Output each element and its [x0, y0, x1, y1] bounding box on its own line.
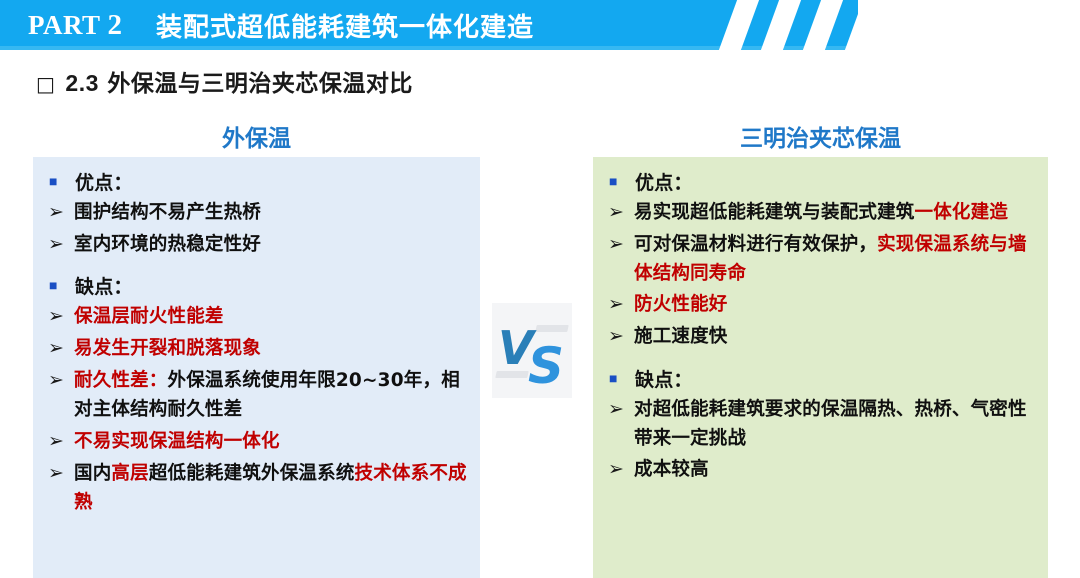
- right-item-segment: 优点：: [635, 172, 693, 194]
- right-item-segment: 成本较高: [634, 459, 709, 480]
- left-item-segment: 室内环境的热稳定性好: [74, 234, 261, 255]
- left-list-item: ➢围护结构不易产生热桥: [45, 198, 468, 228]
- stripe-3: [801, 0, 846, 50]
- arrow-bullet-icon: ➢: [605, 290, 634, 320]
- right-item-segment: 缺点：: [635, 369, 693, 391]
- left-item-segment: 易发生开裂和脱落现象: [74, 338, 261, 359]
- right-item-text: 成本较高: [634, 455, 1036, 484]
- subtitle-marker-icon: □: [36, 72, 55, 96]
- arrow-bullet-icon: ➢: [45, 198, 74, 228]
- left-item-text: 围护结构不易产生热桥: [74, 198, 468, 227]
- vs-inner: V S: [492, 303, 572, 398]
- right-item-text: 可对保温材料进行有效保护，实现保温系统与墙体结构同寿命: [634, 230, 1036, 288]
- slide-header: PART 2 装配式超低能耗建筑一体化建造: [0, 0, 1080, 50]
- right-list-heading: ■缺点：: [605, 365, 1036, 395]
- right-item-text: 施工速度快: [634, 322, 1036, 351]
- arrow-bullet-icon: ➢: [45, 302, 74, 332]
- left-item-text: 优点：: [75, 168, 468, 198]
- right-item-text: 缺点：: [635, 365, 1036, 395]
- left-column-title: 外保温: [33, 119, 480, 153]
- left-panel-outer-insulation: ■优点：➢围护结构不易产生热桥➢室内环境的热稳定性好■缺点：➢保温层耐火性能差➢…: [33, 157, 480, 578]
- left-item-segment: 高层: [111, 463, 148, 484]
- left-item-segment: 国内: [74, 463, 111, 484]
- left-item-text: 缺点：: [75, 272, 468, 302]
- left-item-segment: 耐久性差：: [74, 370, 168, 391]
- left-item-segment: 超低能耗建筑外保温系统: [149, 463, 355, 484]
- right-item-text: 优点：: [635, 168, 1036, 198]
- stripe-1: [717, 0, 762, 50]
- right-item-text: 易实现超低能耗建筑与装配式建筑一体化建造: [634, 198, 1036, 227]
- right-item-segment: 易实现超低能耗建筑与装配式建筑: [634, 202, 915, 223]
- right-column-title: 三明治夹芯保温: [593, 119, 1048, 153]
- right-list-item: ➢成本较高: [605, 455, 1036, 485]
- header-title-group: PART 2 装配式超低能耗建筑一体化建造: [28, 7, 534, 43]
- right-item-text: 防火性能好: [634, 290, 1036, 319]
- vs-badge: V S: [492, 303, 572, 398]
- right-list-item: ➢可对保温材料进行有效保护，实现保温系统与墙体结构同寿命: [605, 230, 1036, 288]
- arrow-bullet-icon: ➢: [45, 334, 74, 364]
- arrow-bullet-icon: ➢: [605, 198, 634, 228]
- right-item-segment: 可对保温材料进行有效保护，: [634, 234, 877, 255]
- arrow-bullet-icon: ➢: [45, 366, 74, 396]
- square-bullet-icon: ■: [605, 365, 635, 392]
- right-panel-sandwich-insulation: ■优点：➢易实现超低能耗建筑与装配式建筑一体化建造➢可对保温材料进行有效保护，实…: [593, 157, 1048, 578]
- part-number: 2: [108, 9, 123, 42]
- vs-dash-top-icon: [535, 325, 568, 332]
- arrow-bullet-icon: ➢: [605, 395, 634, 425]
- square-bullet-icon: ■: [45, 272, 75, 299]
- part-label: PART: [28, 10, 101, 41]
- subtitle-number: 2.3: [65, 70, 98, 96]
- left-panel-items: ■优点：➢围护结构不易产生热桥➢室内环境的热稳定性好■缺点：➢保温层耐火性能差➢…: [33, 157, 480, 517]
- subtitle-text: 外保温与三明治夹芯保温对比: [107, 71, 413, 97]
- right-item-segment: 施工速度快: [634, 326, 728, 347]
- left-item-segment: 优点：: [75, 172, 133, 194]
- arrow-bullet-icon: ➢: [605, 455, 634, 485]
- left-list-heading: ■优点：: [45, 168, 468, 198]
- right-item-segment: 防火性能好: [634, 294, 728, 315]
- left-list-item: ➢室内环境的热稳定性好: [45, 230, 468, 260]
- left-item-text: 不易实现保温结构一体化: [74, 427, 468, 456]
- vs-letter-s: S: [528, 341, 564, 391]
- right-list-heading: ■优点：: [605, 168, 1036, 198]
- left-item-segment: 保温层耐火性能差: [74, 306, 224, 327]
- arrow-bullet-icon: ➢: [45, 427, 74, 457]
- stripe-tail-fill: [865, 0, 1008, 50]
- right-item-segment: 对超低能耗建筑要求的保温隔热、热桥、气密性带来一定挑战: [634, 399, 1027, 449]
- left-item-text: 易发生开裂和脱落现象: [74, 334, 468, 363]
- left-item-segment: 缺点：: [75, 276, 133, 298]
- arrow-bullet-icon: ➢: [45, 230, 74, 260]
- right-item-text: 对超低能耗建筑要求的保温隔热、热桥、气密性带来一定挑战: [634, 395, 1036, 453]
- left-list-heading: ■缺点：: [45, 272, 468, 302]
- left-item-text: 保温层耐火性能差: [74, 302, 468, 331]
- right-list-item: ➢对超低能耗建筑要求的保温隔热、热桥、气密性带来一定挑战: [605, 395, 1036, 453]
- left-item-segment: 围护结构不易产生热桥: [74, 202, 261, 223]
- left-item-text: 国内高层超低能耗建筑外保温系统技术体系不成熟: [74, 459, 468, 517]
- right-list-item: ➢易实现超低能耗建筑与装配式建筑一体化建造: [605, 198, 1036, 228]
- header-title-cn: 装配式超低能耗建筑一体化建造: [156, 7, 534, 44]
- square-bullet-icon: ■: [45, 168, 75, 195]
- left-list-item: ➢国内高层超低能耗建筑外保温系统技术体系不成熟: [45, 459, 468, 517]
- right-list-item: ➢施工速度快: [605, 322, 1036, 352]
- left-list-item: ➢易发生开裂和脱落现象: [45, 334, 468, 364]
- left-list-item: ➢不易实现保温结构一体化: [45, 427, 468, 457]
- section-subtitle: □2.3 外保温与三明治夹芯保温对比: [36, 64, 413, 98]
- right-list-item: ➢防火性能好: [605, 290, 1036, 320]
- left-list-item: ➢耐久性差：外保温系统使用年限20~30年，相对主体结构耐久性差: [45, 366, 468, 424]
- arrow-bullet-icon: ➢: [605, 322, 634, 352]
- left-item-text: 室内环境的热稳定性好: [74, 230, 468, 259]
- right-item-segment: 一体化建造: [915, 202, 1009, 223]
- left-item-text: 耐久性差：外保温系统使用年限20~30年，相对主体结构耐久性差: [74, 366, 468, 424]
- stripe-2: [759, 0, 804, 50]
- right-panel-items: ■优点：➢易实现超低能耗建筑与装配式建筑一体化建造➢可对保温材料进行有效保护，实…: [593, 157, 1048, 485]
- left-list-item: ➢保温层耐火性能差: [45, 302, 468, 332]
- arrow-bullet-icon: ➢: [605, 230, 634, 260]
- header-diagonal-stripes: [716, 0, 956, 50]
- left-item-segment: 不易实现保温结构一体化: [74, 431, 280, 452]
- arrow-bullet-icon: ➢: [45, 459, 74, 489]
- square-bullet-icon: ■: [605, 168, 635, 195]
